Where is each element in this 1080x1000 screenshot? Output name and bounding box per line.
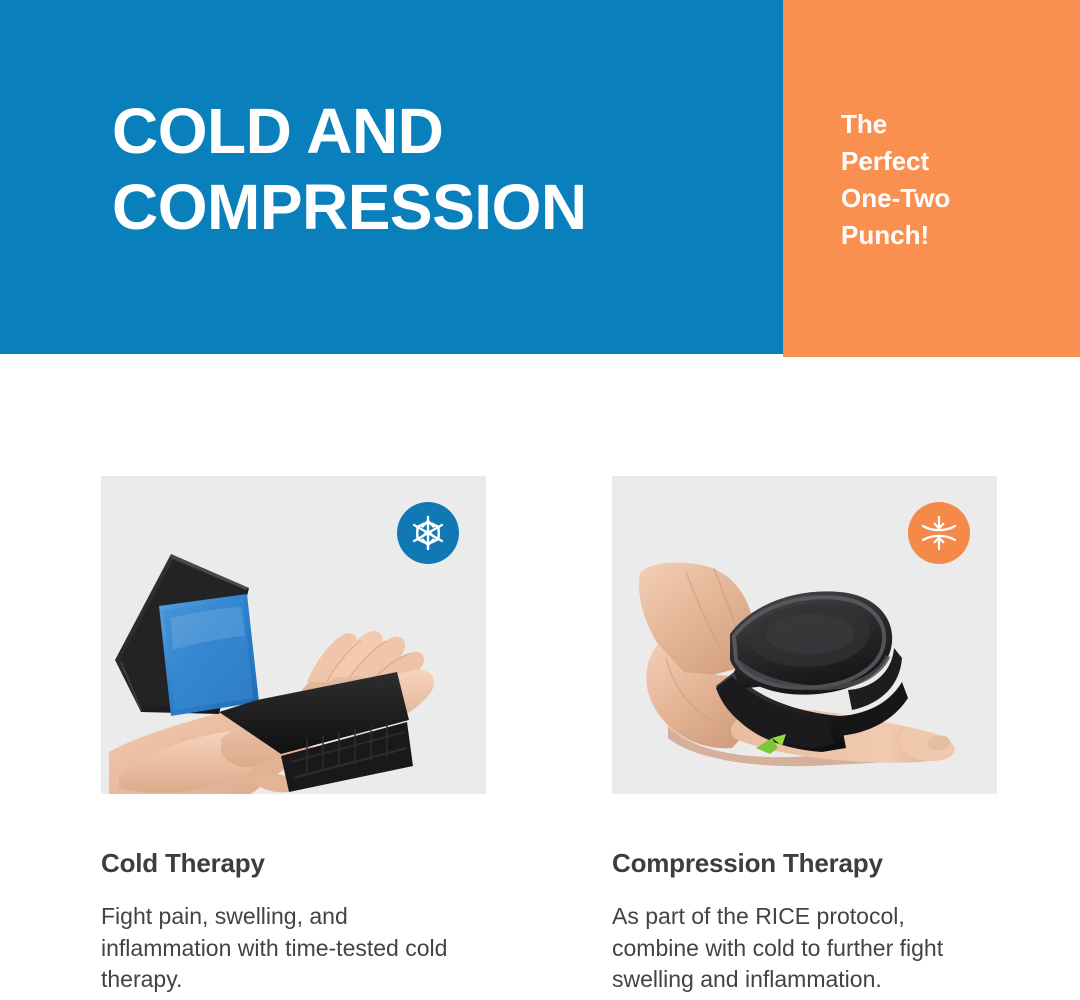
compression-therapy-image: [612, 476, 997, 794]
infographic-page: Cold and Compression The Perfect One-Two…: [0, 0, 1080, 1000]
page-title: Cold and Compression: [112, 94, 732, 245]
compression-therapy-body: As part of the RICE protocol, combine wi…: [612, 901, 972, 996]
hero-banner: Cold and Compression The Perfect One-Two…: [0, 0, 1080, 357]
snowflake-badge: [397, 502, 459, 564]
compression-therapy-heading: Compression Therapy: [612, 848, 1001, 879]
feature-cold-therapy: Cold Therapy Fight pain, swelling, and i…: [101, 476, 490, 996]
compression-badge: [908, 502, 970, 564]
snowflake-icon: [409, 514, 447, 552]
cold-therapy-image: [101, 476, 486, 794]
compression-arrows-icon: [919, 513, 959, 553]
feature-columns: Cold Therapy Fight pain, swelling, and i…: [0, 476, 1080, 996]
feature-compression-therapy: Compression Therapy As part of the RICE …: [612, 476, 1001, 996]
cold-therapy-heading: Cold Therapy: [101, 848, 490, 879]
hero-kicker-text: The Perfect One-Two Punch!: [841, 106, 1051, 254]
cold-therapy-body: Fight pain, swelling, and inflammation w…: [101, 901, 461, 996]
